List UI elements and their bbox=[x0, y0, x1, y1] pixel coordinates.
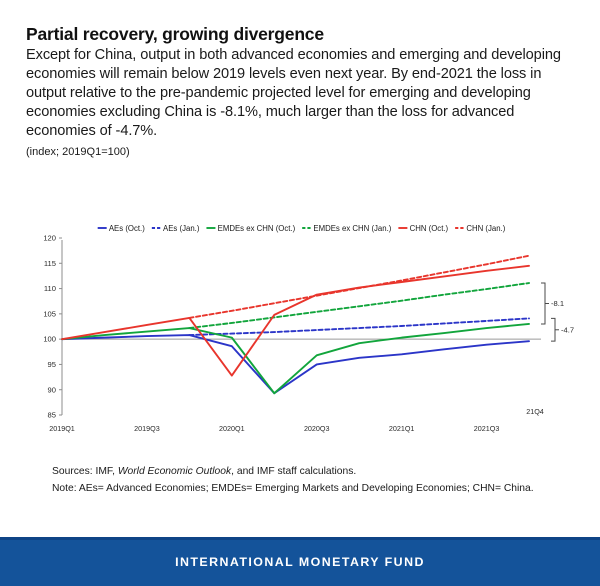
bracket-gap_aes bbox=[551, 318, 555, 341]
series-line-aes_oct bbox=[62, 335, 529, 393]
line-chart: AEs (Oct.)AEs (Jan.)EMDEs ex CHN (Oct.)E… bbox=[0, 218, 600, 438]
series-line-emdes_oct bbox=[62, 324, 529, 393]
chart-annotations: -8.1-4.7 bbox=[541, 283, 574, 341]
x-tick-label: 2021Q1 bbox=[389, 424, 415, 433]
header-block: Partial recovery, growing divergence Exc… bbox=[26, 24, 566, 159]
x-end-label: 21Q4 bbox=[526, 407, 544, 416]
legend-label-emdes_jan: EMDEs ex CHN (Jan.) bbox=[313, 224, 391, 233]
footer-organization-name: INTERNATIONAL MONETARY FUND bbox=[175, 555, 425, 569]
x-tick-label: 2021Q3 bbox=[474, 424, 500, 433]
x-tick-label: 2020Q1 bbox=[219, 424, 245, 433]
legend-label-chn_oct: CHN (Oct.) bbox=[410, 224, 449, 233]
legend-label-emdes_oct: EMDEs ex CHN (Oct.) bbox=[218, 224, 296, 233]
y-tick-label: 95 bbox=[48, 360, 56, 369]
bracket-gap_emdes bbox=[541, 283, 545, 324]
legend-item-emdes_jan[interactable]: EMDEs ex CHN (Jan.) bbox=[302, 224, 392, 233]
y-tick-label: 90 bbox=[48, 385, 56, 394]
x-tick-label: 2019Q1 bbox=[49, 424, 75, 433]
legend-item-aes_oct[interactable]: AEs (Oct.) bbox=[98, 224, 146, 233]
legend-item-aes_jan[interactable]: AEs (Jan.) bbox=[152, 224, 200, 233]
annotation-label-gap_emdes: -8.1 bbox=[551, 299, 564, 308]
annotation-label-gap_aes: -4.7 bbox=[561, 325, 574, 334]
y-tick-label: 100 bbox=[43, 335, 56, 344]
y-tick-label: 110 bbox=[44, 284, 56, 293]
y-tick-label: 85 bbox=[48, 411, 56, 420]
footnotes-block: Sources: IMF, World Economic Outlook, an… bbox=[52, 464, 582, 497]
page-title: Partial recovery, growing divergence bbox=[26, 24, 566, 45]
legend-label-aes_oct: AEs (Oct.) bbox=[109, 224, 145, 233]
x-tick-label: 2020Q3 bbox=[304, 424, 330, 433]
sources-publication: World Economic Outlook bbox=[118, 466, 231, 477]
legend-item-emdes_oct[interactable]: EMDEs ex CHN (Oct.) bbox=[206, 224, 295, 233]
note-line: Note: AEs= Advanced Economies; EMDEs= Em… bbox=[52, 481, 582, 498]
sources-suffix: , and IMF staff calculations. bbox=[231, 466, 356, 477]
y-tick-label: 120 bbox=[43, 234, 56, 243]
legend-item-chn_jan[interactable]: CHN (Jan.) bbox=[455, 224, 506, 233]
series-line-chn_oct bbox=[62, 266, 529, 376]
chart-series-group bbox=[62, 256, 529, 394]
footer-banner: INTERNATIONAL MONETARY FUND bbox=[0, 537, 600, 586]
legend-item-chn_oct[interactable]: CHN (Oct.) bbox=[398, 224, 448, 233]
y-tick-label: 105 bbox=[43, 309, 56, 318]
chart-container: AEs (Oct.)AEs (Jan.)EMDEs ex CHN (Oct.)E… bbox=[0, 218, 600, 438]
chart-legend: AEs (Oct.)AEs (Jan.)EMDEs ex CHN (Oct.)E… bbox=[98, 224, 506, 233]
x-tick-label: 2019Q3 bbox=[134, 424, 160, 433]
legend-label-aes_jan: AEs (Jan.) bbox=[163, 224, 200, 233]
imf-chart-page: Partial recovery, growing divergence Exc… bbox=[0, 0, 600, 586]
index-note: (index; 2019Q1=100) bbox=[26, 146, 566, 159]
sources-line: Sources: IMF, World Economic Outlook, an… bbox=[52, 464, 582, 481]
footer-top-rule bbox=[0, 537, 600, 540]
legend-label-chn_jan: CHN (Jan.) bbox=[466, 224, 505, 233]
y-tick-label: 115 bbox=[44, 259, 56, 268]
page-subtitle: Except for China, output in both advance… bbox=[26, 46, 566, 140]
sources-prefix: Sources: IMF, bbox=[52, 466, 118, 477]
